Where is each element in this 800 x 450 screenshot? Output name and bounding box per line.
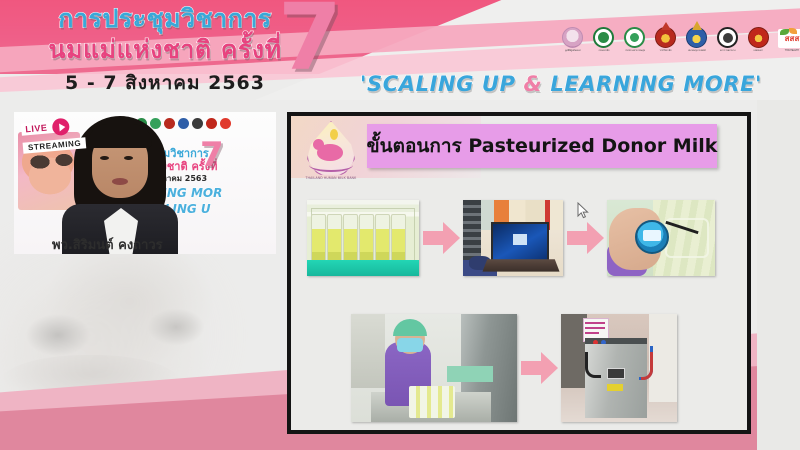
presenter-mouth bbox=[112, 178, 128, 185]
presenter-eye-right bbox=[124, 156, 133, 160]
blue-crown-logo: สมาคมกุมารแพทย์ bbox=[684, 22, 709, 52]
process-row-2 bbox=[351, 314, 721, 422]
royal-patron-logo: มูลนิธิศูนย์นมแม่ bbox=[560, 22, 585, 52]
human-milk-bank-logo: THAILAND HUMAN MILK BANK bbox=[297, 118, 367, 188]
presenter-video[interactable]: การประชุมวิชาการ นมแม่แห่งชาติ ครั้งที่ … bbox=[14, 112, 276, 254]
slide-content-panel: THAILAND HUMAN MILK BANK ขั้นตอนการ Past… bbox=[287, 112, 751, 434]
red-seal-logo: แพทยสภา bbox=[746, 22, 771, 52]
cradling-hands-icon bbox=[309, 158, 353, 172]
panel-heading-text: ขั้นตอนการ Pasteurized Donor Milk bbox=[367, 131, 718, 161]
conference-title-line2: นมแม่แห่งชาติ ครั้งที่ bbox=[20, 34, 310, 65]
process-row-1 bbox=[307, 200, 739, 276]
mouse-pointer-icon bbox=[577, 202, 589, 225]
photo-nurse-loading-pasteurizer bbox=[351, 314, 517, 422]
panel-heading: ขั้นตอนการ Pasteurized Donor Milk bbox=[367, 124, 717, 168]
presenter-fringe bbox=[88, 124, 152, 148]
presenter-eye-left bbox=[100, 156, 109, 160]
conference-date: 5 - 7 สิงหาคม 2563 bbox=[20, 68, 310, 98]
photo-pasteurizer-machine bbox=[561, 314, 677, 422]
poster-edition-number: 7 bbox=[200, 138, 224, 172]
photo-thermometer-check bbox=[607, 200, 715, 276]
conference-tagline: 'SCALING UP & LEARNING MORE' bbox=[360, 72, 762, 96]
slide-stage: การประชุมวิชาการ นมแม่แห่งชาติ ครั้งที่ … bbox=[0, 0, 800, 450]
photo-milk-bottle-crates bbox=[307, 200, 419, 276]
milk-bank-logo-caption: THAILAND HUMAN MILK BANK bbox=[297, 176, 365, 180]
black-seal-logo: สภาการพยาบาล bbox=[715, 22, 740, 52]
green-shield-logo: กรมอนามัย bbox=[591, 22, 616, 52]
photo-laptop-records bbox=[463, 200, 563, 276]
live-label: LIVE bbox=[21, 120, 62, 135]
live-streaming-badge: LIVE STREAMING bbox=[21, 114, 87, 155]
thaihealth-logo: สสสTHAI HEALTH bbox=[777, 22, 800, 52]
right-gray-strip bbox=[757, 100, 800, 450]
sponsor-logo-strip: มูลนิธิศูนย์นมแม่ กรมอนามัย กระทรวงสาธาร… bbox=[560, 22, 800, 52]
tagline-prefix: 'SCALING UP bbox=[360, 72, 524, 96]
conference-title-line1: การประชุมวิชาการ bbox=[20, 4, 310, 34]
tagline-suffix: LEARNING MORE' bbox=[542, 72, 762, 96]
tagline-ampersand: & bbox=[524, 72, 543, 96]
milk-drop-dot-icon bbox=[330, 129, 338, 140]
right-arrow-icon bbox=[517, 348, 561, 388]
edition-number: 7 bbox=[278, 0, 342, 84]
conference-title-block: การประชุมวิชาการ นมแม่แห่งชาติ ครั้งที่ … bbox=[20, 4, 310, 98]
presenter-name: พว.สิริมนต์ คงถาวร bbox=[52, 234, 163, 255]
right-arrow-icon bbox=[419, 218, 463, 258]
play-icon bbox=[52, 118, 70, 136]
green-medical-logo: กระทรวงสาธารณสุข bbox=[622, 22, 647, 52]
red-crown-logo: ราชวิทยาลัย bbox=[653, 22, 678, 52]
